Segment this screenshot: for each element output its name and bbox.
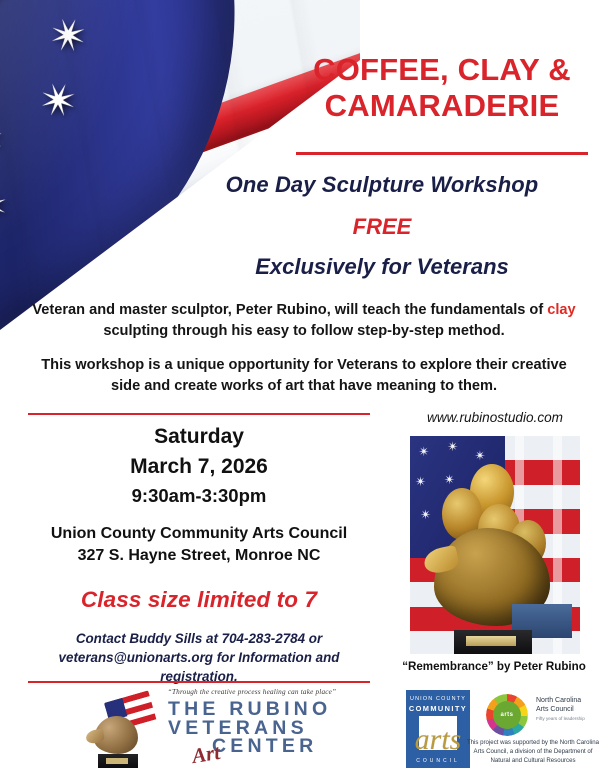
- rubino-logo-plaque: [106, 758, 128, 764]
- nc-logo-arts-mark: arts: [493, 701, 521, 729]
- title-line-1: COFFEE, CLAY &: [296, 52, 588, 88]
- subtitle-free: FREE: [170, 214, 594, 240]
- uc-logo-line-1: UNION COUNTY: [410, 696, 466, 702]
- sculpture-plaque: [466, 636, 516, 646]
- subtitle-workshop: One Day Sculpture Workshop: [170, 172, 594, 198]
- nc-logo-wordmark: North Carolina Arts Council Fifty years …: [536, 696, 594, 722]
- nc-logo-tenure: Fifty years of leadership: [536, 716, 594, 722]
- rubino-eagle-bust-icon: [88, 696, 156, 768]
- uc-logo-council-text: COUNCIL: [406, 758, 470, 764]
- description-1-before: Veteran and master sculptor, Peter Rubin…: [32, 302, 547, 318]
- event-day: Saturday: [28, 424, 370, 451]
- photo-star-icon: ✴: [415, 475, 426, 488]
- flag-graphic: ✴ ✴ ✴ ✴ ✴ ✴ ✴ ✴ ✴ ✴ ✴: [0, 0, 360, 330]
- flyer-page: ✴ ✴ ✴ ✴ ✴ ✴ ✴ ✴ ✴ ✴ ✴ COFFEE, CLAY & CAM…: [0, 0, 606, 772]
- union-county-arts-council-logo: UNION COUNTY COMMUNITY arts COUNCIL: [406, 690, 470, 768]
- rubino-tagline: “Through the creative process healing ca…: [134, 688, 370, 696]
- event-venue: Union County Community Arts Council: [28, 523, 370, 545]
- sculpture-photo: ✴ ✴ ✴ ✴ ✴ ✴ ✴ ✴ ✴: [410, 436, 580, 654]
- artwork-caption: “Remembrance” by Peter Rubino: [386, 660, 602, 673]
- event-date: March 7, 2026: [28, 454, 370, 481]
- rubino-wordmark-line-1: THE RUBINO: [168, 700, 370, 719]
- event-details: Saturday March 7, 2026 9:30am-3:30pm Uni…: [28, 424, 370, 686]
- nc-logo-name: North Carolina Arts Council: [536, 696, 594, 714]
- rubino-art-script: Art: [190, 740, 222, 769]
- title-divider: [296, 152, 588, 155]
- website-url[interactable]: www.rubinostudio.com: [392, 410, 598, 425]
- description-1-after: sculpting through his easy to follow ste…: [103, 323, 504, 339]
- photo-star-icon: ✴: [447, 440, 458, 453]
- footer-divider: [28, 681, 370, 683]
- class-size-note: Class size limited to 7: [28, 587, 370, 613]
- uc-logo-line-2: COMMUNITY: [406, 703, 470, 714]
- title-line-2: CAMARADERIE: [296, 88, 588, 124]
- flag-fold-shading: [0, 0, 360, 330]
- details-top-divider: [28, 413, 370, 415]
- photo-star-icon: ✴: [419, 445, 430, 458]
- event-address: 327 S. Hayne Street, Monroe NC: [28, 545, 370, 567]
- page-title: COFFEE, CLAY & CAMARADERIE: [296, 52, 588, 124]
- description-1-highlight: clay: [547, 302, 575, 318]
- american-flag-banner: ✴ ✴ ✴ ✴ ✴ ✴ ✴ ✴ ✴ ✴ ✴: [0, 0, 360, 330]
- uc-logo-top-text: UNION COUNTY COMMUNITY: [406, 695, 470, 714]
- uc-logo-arts-script: arts: [410, 718, 466, 762]
- event-time: 9:30am-3:30pm: [28, 484, 370, 508]
- subtitle-veterans: Exclusively for Veterans: [170, 254, 594, 280]
- nc-arts-council-logo: arts North Carolina Arts Council Fifty y…: [484, 692, 596, 738]
- nc-logo-core-icon: arts: [493, 701, 521, 729]
- description-paragraph-2: This workshop is a unique opportunity fo…: [30, 355, 578, 397]
- rubino-veterans-art-center-logo: “Through the creative process healing ca…: [88, 690, 370, 770]
- contact-info[interactable]: Contact Buddy Sills at 704-283-2784 or v…: [28, 629, 370, 686]
- sculpture-figures: [426, 458, 554, 654]
- nc-support-statement: This project was supported by the North …: [466, 738, 600, 765]
- description-paragraph-1: Veteran and master sculptor, Peter Rubin…: [30, 300, 578, 342]
